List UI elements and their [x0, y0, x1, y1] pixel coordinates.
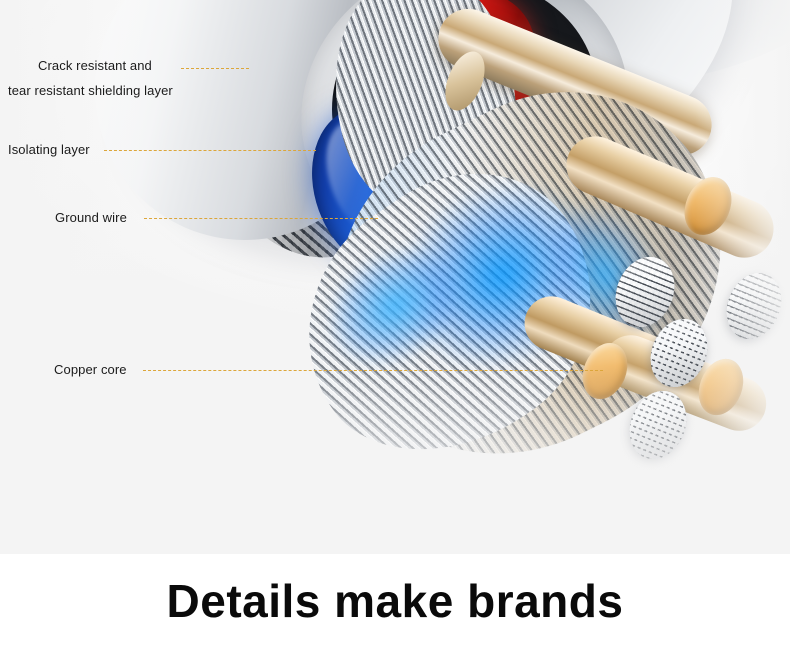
page-root: Crack resistant and tear resistant shiel…: [0, 0, 790, 653]
callout-shielding-layer-line2: tear resistant shielding layer: [8, 81, 173, 100]
leader-line-ground-wire: [144, 218, 378, 219]
product-image-panel: Crack resistant and tear resistant shiel…: [0, 0, 790, 554]
stranded-wire-bundle-3: [717, 265, 790, 348]
leader-line-isolating-layer: [104, 150, 316, 151]
bundle-shading: [717, 265, 790, 348]
callout-ground-wire-label: Ground wire: [55, 208, 127, 227]
leader-line-shielding-layer: [181, 68, 249, 69]
headline-text: Details make brands: [0, 570, 790, 632]
callout-shielding-layer-line1: Crack resistant and: [38, 56, 152, 75]
headline-band: Details make brands: [0, 554, 790, 653]
leader-line-copper-core: [143, 370, 603, 371]
callout-copper-core-label: Copper core: [54, 360, 127, 379]
callout-isolating-layer-label: Isolating layer: [8, 140, 90, 159]
